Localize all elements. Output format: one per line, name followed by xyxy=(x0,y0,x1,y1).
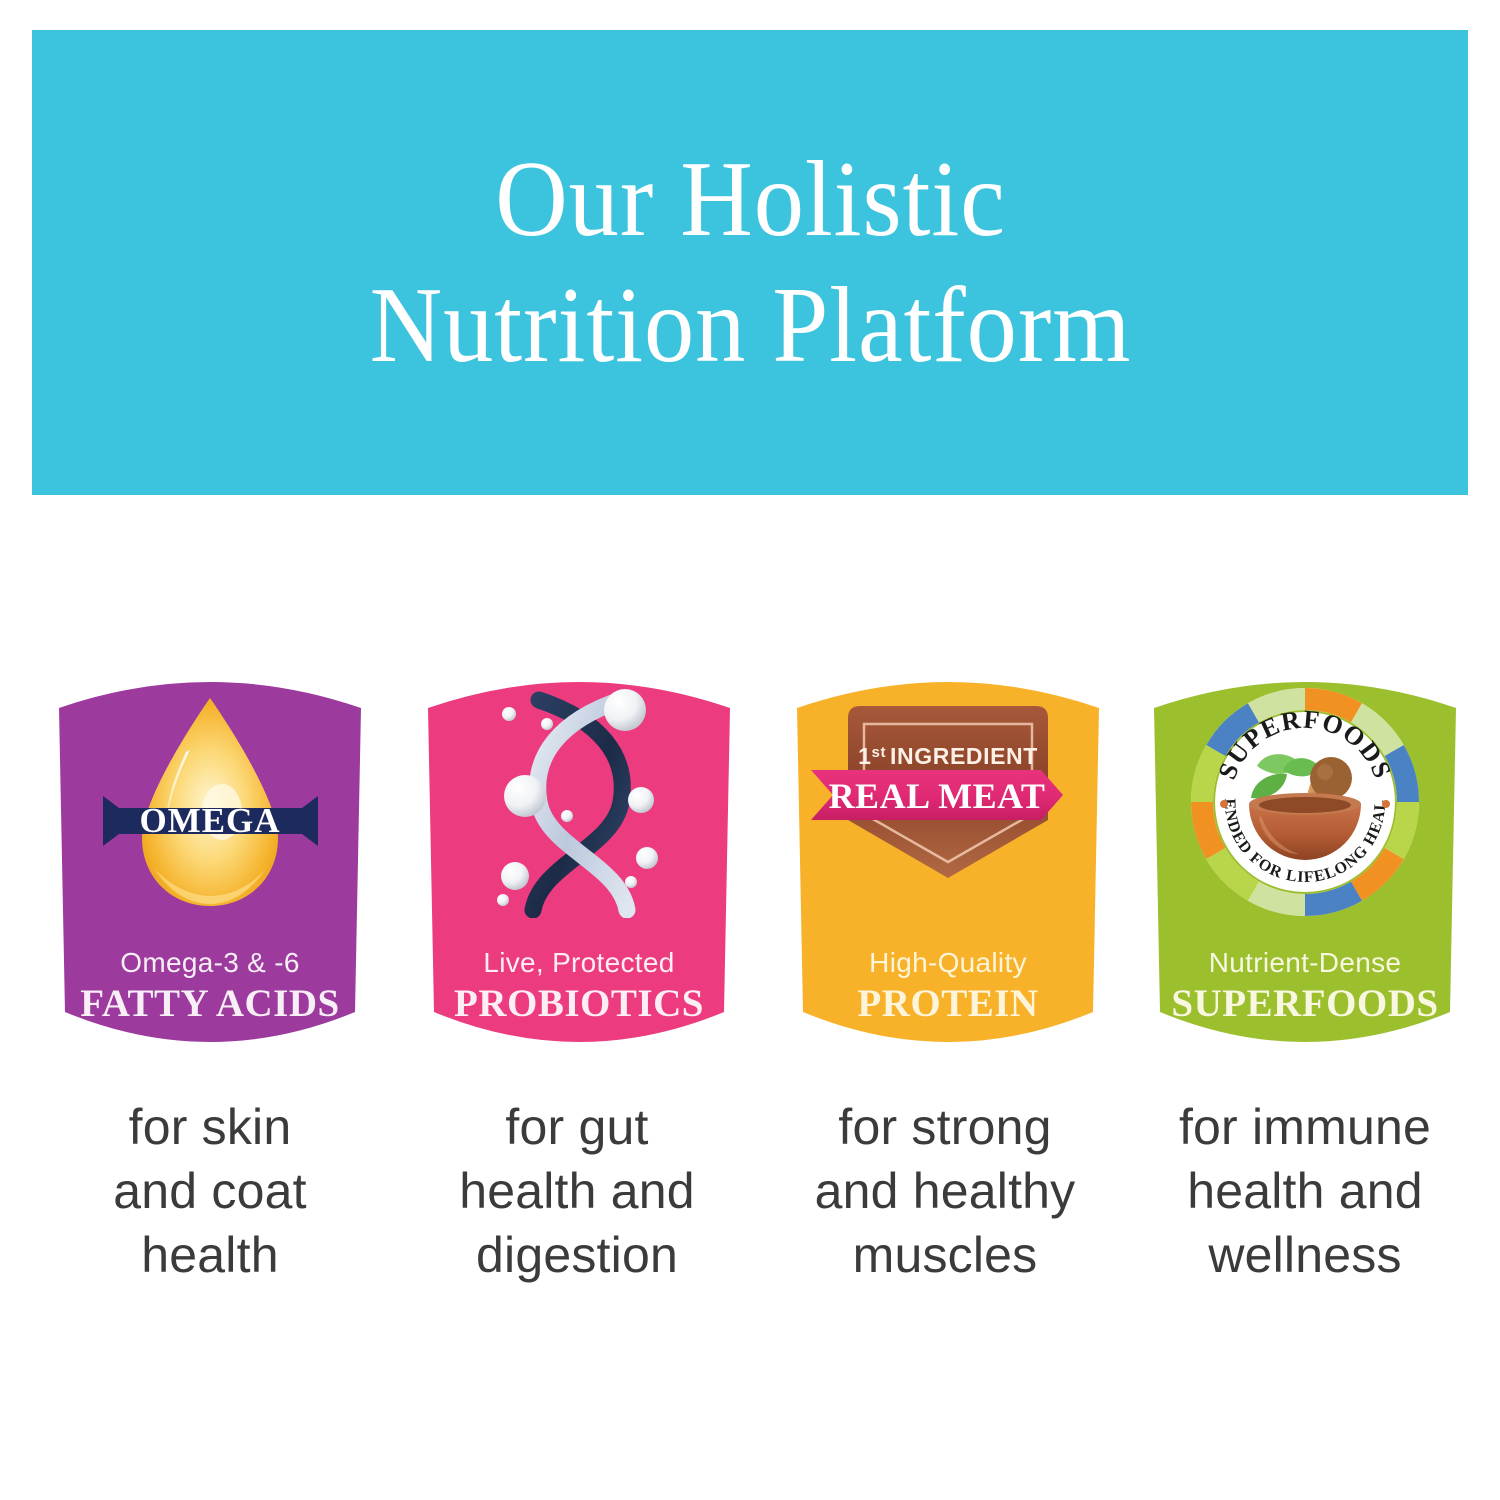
title-line-2: Nutrition Platform xyxy=(369,263,1131,388)
real-meat-ribbon-label: REAL MEAT xyxy=(829,776,1046,816)
omega-ribbon-icon: OMEGA xyxy=(103,792,318,850)
caption-line: health xyxy=(45,1223,375,1287)
badge-main-label: PROTEIN xyxy=(793,983,1103,1026)
caption-line: for immune xyxy=(1140,1095,1470,1159)
caption-line: and coat xyxy=(45,1159,375,1223)
page-title: Our Holistic Nutrition Platform xyxy=(369,137,1131,388)
badge-row: OMEGA Omega-3 & -6 FATTY ACIDS xyxy=(0,660,1500,1060)
caption-line: digestion xyxy=(412,1223,742,1287)
real-meat-ribbon-icon: REAL MEAT xyxy=(811,764,1063,826)
badge-sub-label: Live, Protected xyxy=(424,948,734,979)
header-banner: Our Holistic Nutrition Platform xyxy=(32,30,1468,495)
caption-line: wellness xyxy=(1140,1223,1470,1287)
badge-fatty-acids[interactable]: OMEGA Omega-3 & -6 FATTY ACIDS xyxy=(55,660,365,1060)
real-meat-shield-icon: 1stINGREDIENT REAL MEAT xyxy=(823,686,1073,918)
badge-protein[interactable]: 1stINGREDIENT REAL MEAT xyxy=(793,660,1103,1060)
badge-probiotics[interactable]: Live, Protected PROBIOTICS xyxy=(424,660,734,1060)
title-line-1: Our Holistic xyxy=(369,137,1131,262)
caption-superfoods: for immune health and wellness xyxy=(1140,1095,1470,1287)
badge-superfoods[interactable]: SUPERFOODS BLENDED FOR LIFELONG HEALTH xyxy=(1150,660,1460,1060)
badge-main-label: FATTY ACIDS xyxy=(55,983,365,1026)
badge-main-label: SUPERFOODS xyxy=(1150,983,1460,1026)
caption-line: for skin xyxy=(45,1095,375,1159)
oil-droplet-icon: OMEGA xyxy=(85,686,335,918)
caption-protein: for strong and healthy muscles xyxy=(780,1095,1110,1287)
badge-sub-label: High-Quality xyxy=(793,948,1103,979)
caption-probiotics: for gut health and digestion xyxy=(412,1095,742,1287)
mortar-pestle-seal-icon: SUPERFOODS BLENDED FOR LIFELONG HEALTH xyxy=(1180,686,1430,918)
caption-line: for strong xyxy=(780,1095,1110,1159)
badge-main-label: PROBIOTICS xyxy=(424,983,734,1026)
caption-line: for gut xyxy=(412,1095,742,1159)
badge-sub-label: Omega-3 & -6 xyxy=(55,948,365,979)
infographic-page: Our Holistic Nutrition Platform xyxy=(0,0,1500,1500)
omega-ribbon-label: OMEGA xyxy=(139,801,280,840)
caption-line: health and xyxy=(1140,1159,1470,1223)
caption-line: and healthy xyxy=(780,1159,1110,1223)
badge-sub-label: Nutrient-Dense xyxy=(1150,948,1460,979)
caption-line: muscles xyxy=(780,1223,1110,1287)
caption-fatty-acids: for skin and coat health xyxy=(45,1095,375,1287)
dna-helix-icon xyxy=(454,686,704,918)
caption-line: health and xyxy=(412,1159,742,1223)
